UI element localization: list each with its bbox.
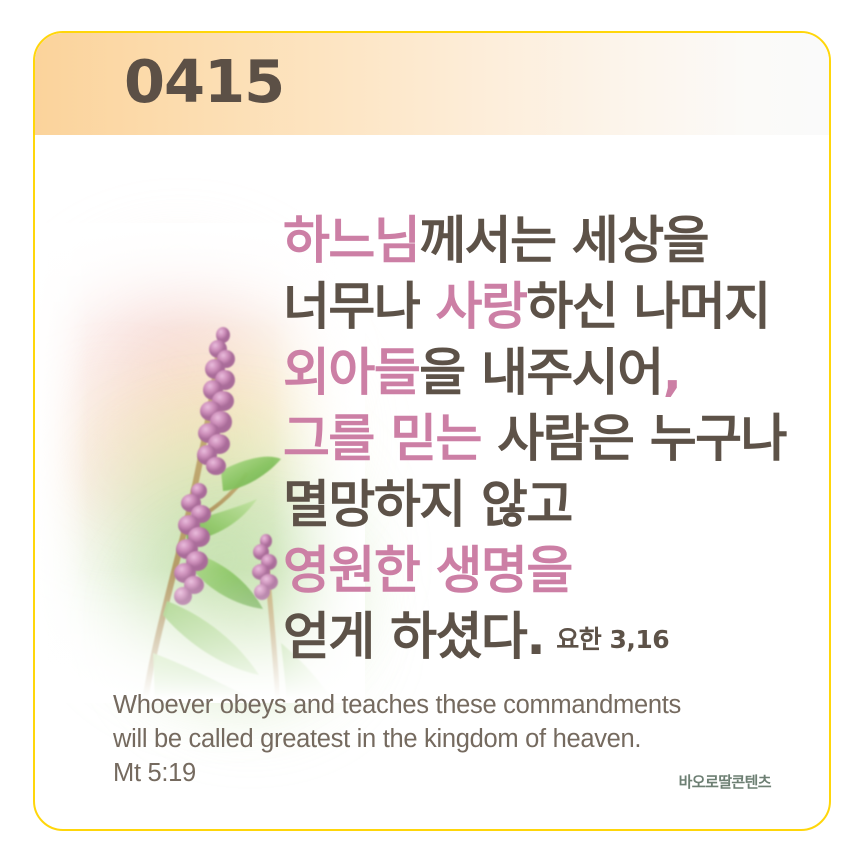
verse-segment: 사람은 누구나 <box>481 410 786 469</box>
verse-segment: 께서는 세상을 <box>419 212 708 271</box>
verse-segment: 영원한 생명을 <box>283 542 572 601</box>
verse-segment: 얻게 하셨다. <box>283 608 544 667</box>
english-verse-line: will be called greatest in the kingdom o… <box>113 722 793 756</box>
verse-line: 외아들을 내주시어, <box>283 341 828 407</box>
verse-line: 하느님께서는 세상을 <box>283 209 828 275</box>
haze-peach <box>40 383 190 553</box>
verse-segment: 하신 나머지 <box>526 278 769 337</box>
verse-line: 멸망하지 않고 <box>283 473 828 539</box>
verse-segment: 외아들 <box>283 344 419 403</box>
verse-segment: 사랑 <box>436 278 527 337</box>
english-verse-line: Whoever obeys and teaches these commandm… <box>113 688 793 722</box>
verse-segment: 을 내주시어 <box>419 344 662 403</box>
haze-pink <box>45 243 315 493</box>
verse-segment: 하느님 <box>283 212 419 271</box>
verse-segment: 멸망하지 않고 <box>283 476 572 535</box>
daily-verse-card: 0415 <box>33 31 831 831</box>
korean-scripture-citation: 요한 3,16 <box>544 625 669 654</box>
publisher-watermark: 바오로딸콘텐츠 <box>679 771 771 792</box>
verse-segment: 너무나 <box>283 278 436 337</box>
verse-line: 너무나 사랑하신 나머지 <box>283 275 828 341</box>
date-number: 0415 <box>124 52 284 111</box>
verse-segment: , <box>663 344 681 403</box>
korean-verse-block: 하느님께서는 세상을 너무나 사랑하신 나머지 외아들을 내주시어, 그를 믿는… <box>283 209 828 673</box>
verse-line: 얻게 하셨다.요한 3,16 <box>283 605 828 673</box>
card-header-band: 0415 <box>35 33 829 135</box>
verse-segment: 그를 믿는 <box>283 410 481 469</box>
verse-line: 영원한 생명을 <box>283 539 828 605</box>
verse-line: 그를 믿는 사람은 누구나 <box>283 407 828 473</box>
